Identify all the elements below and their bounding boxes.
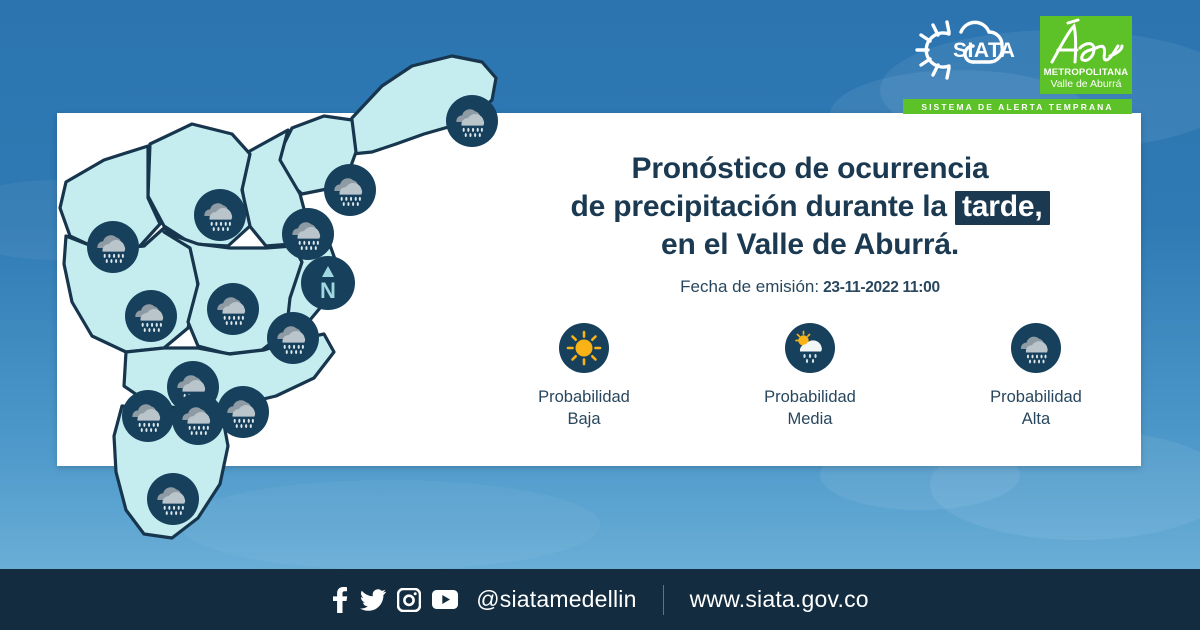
- legend-baja-line1: Probabilidad: [538, 388, 630, 406]
- legend-label-media: Probabilidad Media: [764, 387, 856, 430]
- marker-medellin-norte: [207, 283, 259, 335]
- marker-san-jeronimo: [125, 290, 177, 342]
- emission-date: Fecha de emisión:23-11-2022 11:00: [500, 277, 1120, 297]
- sun-icon: [559, 323, 609, 373]
- legend-label-alta: Probabilidad Alta: [990, 387, 1082, 430]
- website-link[interactable]: www.siata.gov.co: [690, 586, 869, 613]
- legend-label-baja: Probabilidad Baja: [538, 387, 630, 430]
- logo-group: SIATA METROPOLITANA Valle de Aburrá SIST…: [903, 16, 1132, 114]
- youtube-icon[interactable]: [432, 590, 458, 609]
- marker-envigado: [217, 386, 269, 438]
- footer-divider: [663, 585, 664, 615]
- cloud-heavy-rain-icon: [217, 386, 269, 438]
- cloud-heavy-rain-icon: [172, 393, 224, 445]
- facebook-icon[interactable]: [331, 587, 349, 613]
- emission-value: 23-11-2022 11:00: [823, 279, 940, 296]
- headline-line2: de precipitación durante la tarde,: [500, 188, 1120, 226]
- cloud-heavy-rain-icon: [446, 95, 498, 147]
- cloud-heavy-rain-icon: [207, 283, 259, 335]
- siata-logo-icon: SIATA: [903, 16, 1028, 82]
- legend-item-media: Probabilidad Media: [740, 323, 880, 430]
- marker-sabaneta: [122, 390, 174, 442]
- area-script-icon: [1044, 18, 1128, 68]
- legend-alta-line2: Alta: [1022, 410, 1050, 428]
- tagline-bar: SISTEMA DE ALERTA TEMPRANA: [903, 99, 1132, 114]
- legend-media-line2: Media: [788, 410, 833, 428]
- marker-la-estrella: [172, 393, 224, 445]
- twitter-icon[interactable]: [360, 589, 386, 611]
- area-metropolitana-logo: METROPOLITANA Valle de Aburrá: [1040, 16, 1132, 94]
- headline-line3: en el Valle de Aburrá.: [500, 226, 1120, 264]
- cloud-heavy-rain-icon: [194, 189, 246, 241]
- cloud-heavy-rain-icon: [282, 208, 334, 260]
- cloud-heavy-rain-icon: [267, 312, 319, 364]
- marker-bello: [194, 189, 246, 241]
- marker-barbosa: [446, 95, 498, 147]
- area-line2: Valle de Aburrá: [1040, 79, 1132, 90]
- marker-san-pedro: [87, 221, 139, 273]
- forecast-content: Pronóstico de ocurrencia de precipitació…: [500, 150, 1120, 430]
- instagram-icon[interactable]: [397, 588, 421, 612]
- probability-legend: Probabilidad Baja: [500, 323, 1120, 430]
- legend-item-alta: Probabilidad Alta: [966, 323, 1106, 430]
- cloud-heavy-rain-icon: [125, 290, 177, 342]
- page-title: Pronóstico de ocurrencia de precipitació…: [500, 150, 1120, 263]
- valle-de-aburra-map: N: [52, 48, 522, 560]
- footer-bar: @siatamedellin www.siata.gov.co: [0, 569, 1200, 630]
- headline-line2-text: de precipitación durante la: [571, 190, 947, 223]
- marker-copacabana: [282, 208, 334, 260]
- legend-media-line1: Probabilidad: [764, 388, 856, 406]
- cloud-heavy-rain-icon: [122, 390, 174, 442]
- social-handle[interactable]: @siatamedellin: [476, 586, 636, 613]
- north-arrow-icon: N: [300, 255, 356, 311]
- emission-label: Fecha de emisión:: [680, 277, 819, 296]
- legend-alta-line1: Probabilidad: [990, 388, 1082, 406]
- sun-cloud-rain-icon: [785, 323, 835, 373]
- compass-label: N: [320, 278, 336, 303]
- headline-line1: Pronóstico de ocurrencia: [500, 150, 1120, 188]
- social-links: [331, 587, 458, 613]
- legend-item-baja: Probabilidad Baja: [514, 323, 654, 430]
- headline-highlight-tarde: tarde,: [955, 191, 1050, 226]
- cloud-heavy-rain-icon: [87, 221, 139, 273]
- cloud-heavy-rain-icon: [147, 473, 199, 525]
- legend-baja-line2: Baja: [567, 410, 600, 428]
- marker-medellin-este: [267, 312, 319, 364]
- marker-caldas: [147, 473, 199, 525]
- cloud-heavy-rain-icon: [1011, 323, 1061, 373]
- siata-wordmark: SIATA: [953, 39, 1015, 62]
- north-compass: N: [300, 255, 356, 311]
